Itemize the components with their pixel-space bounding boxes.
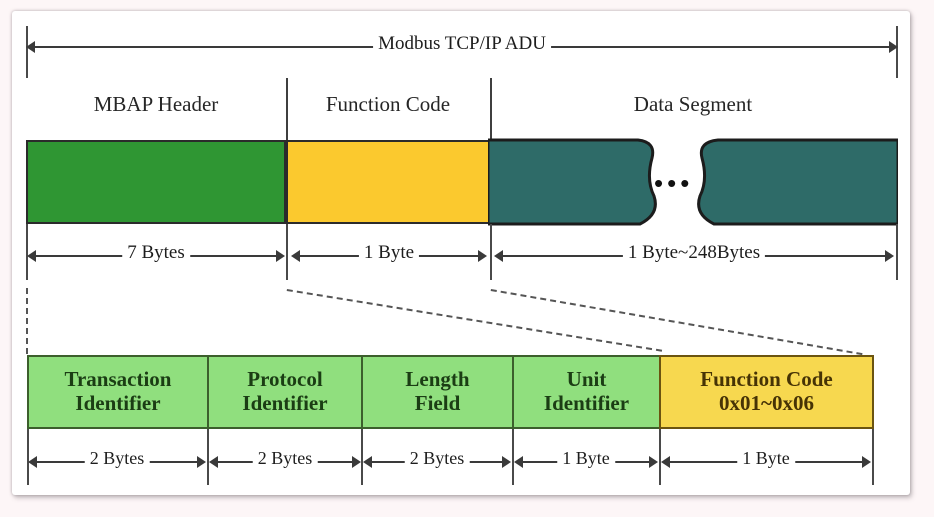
detail-size-label-protocol: 2 Bytes [253, 448, 318, 469]
connector-dash-a [287, 289, 662, 352]
size-label-mbap: 7 Bytes [122, 242, 190, 264]
block-function-code [286, 140, 490, 224]
detail-cell-protocol: Protocol Identifier [207, 355, 363, 429]
detail-cell-length-line2: Field [405, 392, 469, 416]
detail-cell-function-code-line2: 0x01~0x06 [700, 392, 832, 416]
detail-cell-unit-line1: Unit [544, 368, 629, 392]
detail-cell-function-code: Function Code 0x01~0x06 [659, 355, 874, 429]
top-block-label-2: Data Segment [490, 92, 896, 117]
detail-size-label-function-code: 1 Byte [737, 448, 795, 469]
detail-cell-function-code-line1: Function Code [700, 368, 832, 392]
diagram-card: Modbus TCP/IP ADU MBAP Header Function C… [12, 11, 910, 495]
detail-cell-unit-line2: Identifier [544, 392, 629, 416]
detail-cell-transaction-line2: Identifier [65, 392, 172, 416]
detail-size-dimension-function-code: 1 Byte [661, 455, 871, 469]
diagram-stage: Modbus TCP/IP ADU MBAP Header Function C… [12, 11, 910, 495]
image-frame: Modbus TCP/IP ADU MBAP Header Function C… [0, 0, 934, 517]
detail-size-dimension-length: 2 Bytes [363, 455, 511, 469]
detail-cell-length-line1: Length [405, 368, 469, 392]
size-dimension-mbap: 7 Bytes [27, 249, 285, 263]
divider-function-data [490, 78, 492, 140]
detail-cell-protocol-line1: Protocol [242, 368, 327, 392]
detail-cell-length: Length Field [361, 355, 514, 429]
connector-dash-b [491, 289, 863, 355]
data-segment-ellipsis: ••• [654, 168, 693, 199]
adu-title: Modbus TCP/IP ADU [373, 33, 551, 55]
top-block-label-1: Function Code [286, 92, 490, 117]
detail-size-label-length: 2 Bytes [405, 448, 470, 469]
size-dimension-data: 1 Byte~248Bytes [494, 249, 894, 263]
size-label-function: 1 Byte [359, 242, 419, 264]
detail-cell-unit: Unit Identifier [512, 355, 661, 429]
adu-span-dimension: Modbus TCP/IP ADU [26, 40, 898, 54]
detail-cell-transaction-line1: Transaction [65, 368, 172, 392]
detail-cell-protocol-line2: Identifier [242, 392, 327, 416]
tick-detail-5 [872, 429, 874, 485]
tick-strip-3 [896, 224, 898, 280]
detail-size-dimension-transaction: 2 Bytes [28, 455, 206, 469]
block-mbap-header [26, 140, 286, 224]
size-dimension-function: 1 Byte [291, 249, 487, 263]
detail-size-label-unit: 1 Byte [557, 448, 615, 469]
detail-cell-transaction: Transaction Identifier [27, 355, 209, 429]
tick-strip-2 [490, 224, 492, 280]
tick-strip-1 [286, 224, 288, 280]
detail-size-dimension-protocol: 2 Bytes [209, 455, 361, 469]
connector-left-vertical [26, 288, 28, 354]
detail-size-label-transaction: 2 Bytes [85, 448, 150, 469]
top-block-label-0: MBAP Header [26, 92, 286, 117]
divider-mbap-function [286, 78, 288, 140]
detail-size-dimension-unit: 1 Byte [514, 455, 658, 469]
size-label-data: 1 Byte~248Bytes [623, 242, 765, 264]
